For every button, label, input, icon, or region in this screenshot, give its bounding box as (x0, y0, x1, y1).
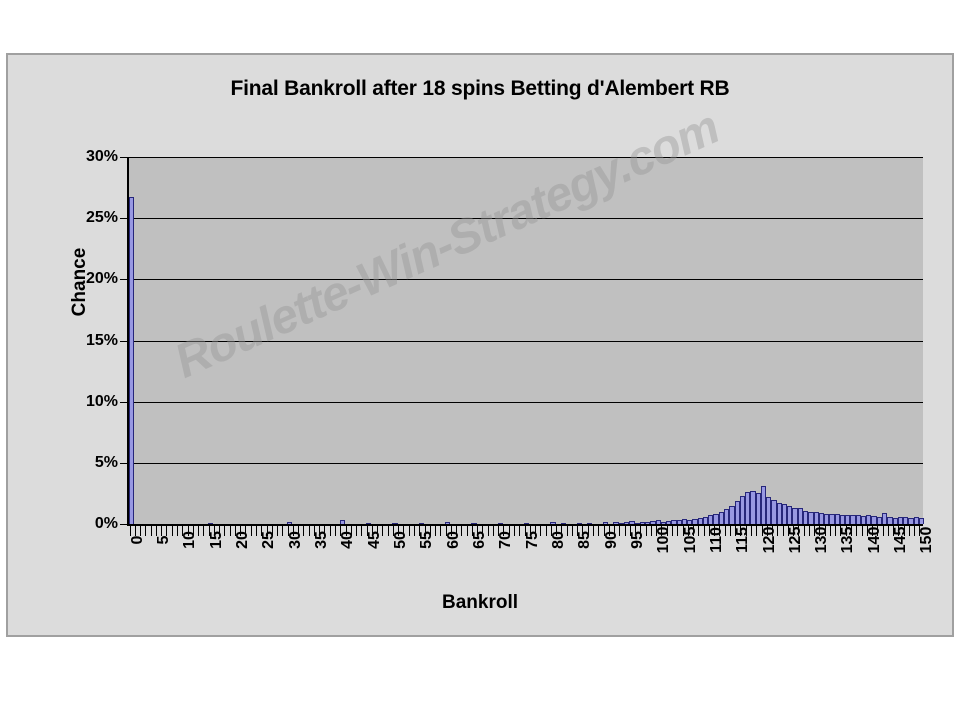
y-axis-tick-mark (120, 279, 127, 280)
y-axis-tick-label: 25% (86, 209, 118, 227)
y-axis-tick-mark (120, 218, 127, 219)
y-axis-tick-label: 0% (95, 515, 118, 533)
bar-series (129, 157, 923, 524)
y-axis-tick-label: 20% (86, 270, 118, 288)
y-axis-tick-mark (120, 341, 127, 342)
y-axis-tick-label: 30% (86, 148, 118, 166)
y-axis-labels: 0%5%10%15%20%25%30% (46, 157, 118, 524)
chart-container: Final Bankroll after 18 spins Betting d'… (6, 53, 954, 637)
bar-slot (919, 157, 924, 524)
x-axis-label-slot: 150 (917, 538, 922, 596)
bar (919, 518, 924, 524)
y-axis-tick-label: 5% (95, 454, 118, 472)
x-axis-title: Bankroll (8, 592, 952, 614)
y-axis-tick-mark (120, 524, 127, 525)
y-axis-tick-mark (120, 402, 127, 403)
plot-area (127, 157, 923, 526)
y-axis-tick-label: 15% (86, 332, 118, 350)
y-axis-tick-mark (120, 463, 127, 464)
y-axis-tick-mark (120, 157, 127, 158)
x-axis-labels: 0510152025303540455055606570758085909510… (127, 538, 921, 596)
chart-title: Final Bankroll after 18 spins Betting d'… (8, 77, 952, 101)
x-axis-tick-label: 150 (919, 527, 935, 554)
y-axis-tick-label: 10% (86, 393, 118, 411)
